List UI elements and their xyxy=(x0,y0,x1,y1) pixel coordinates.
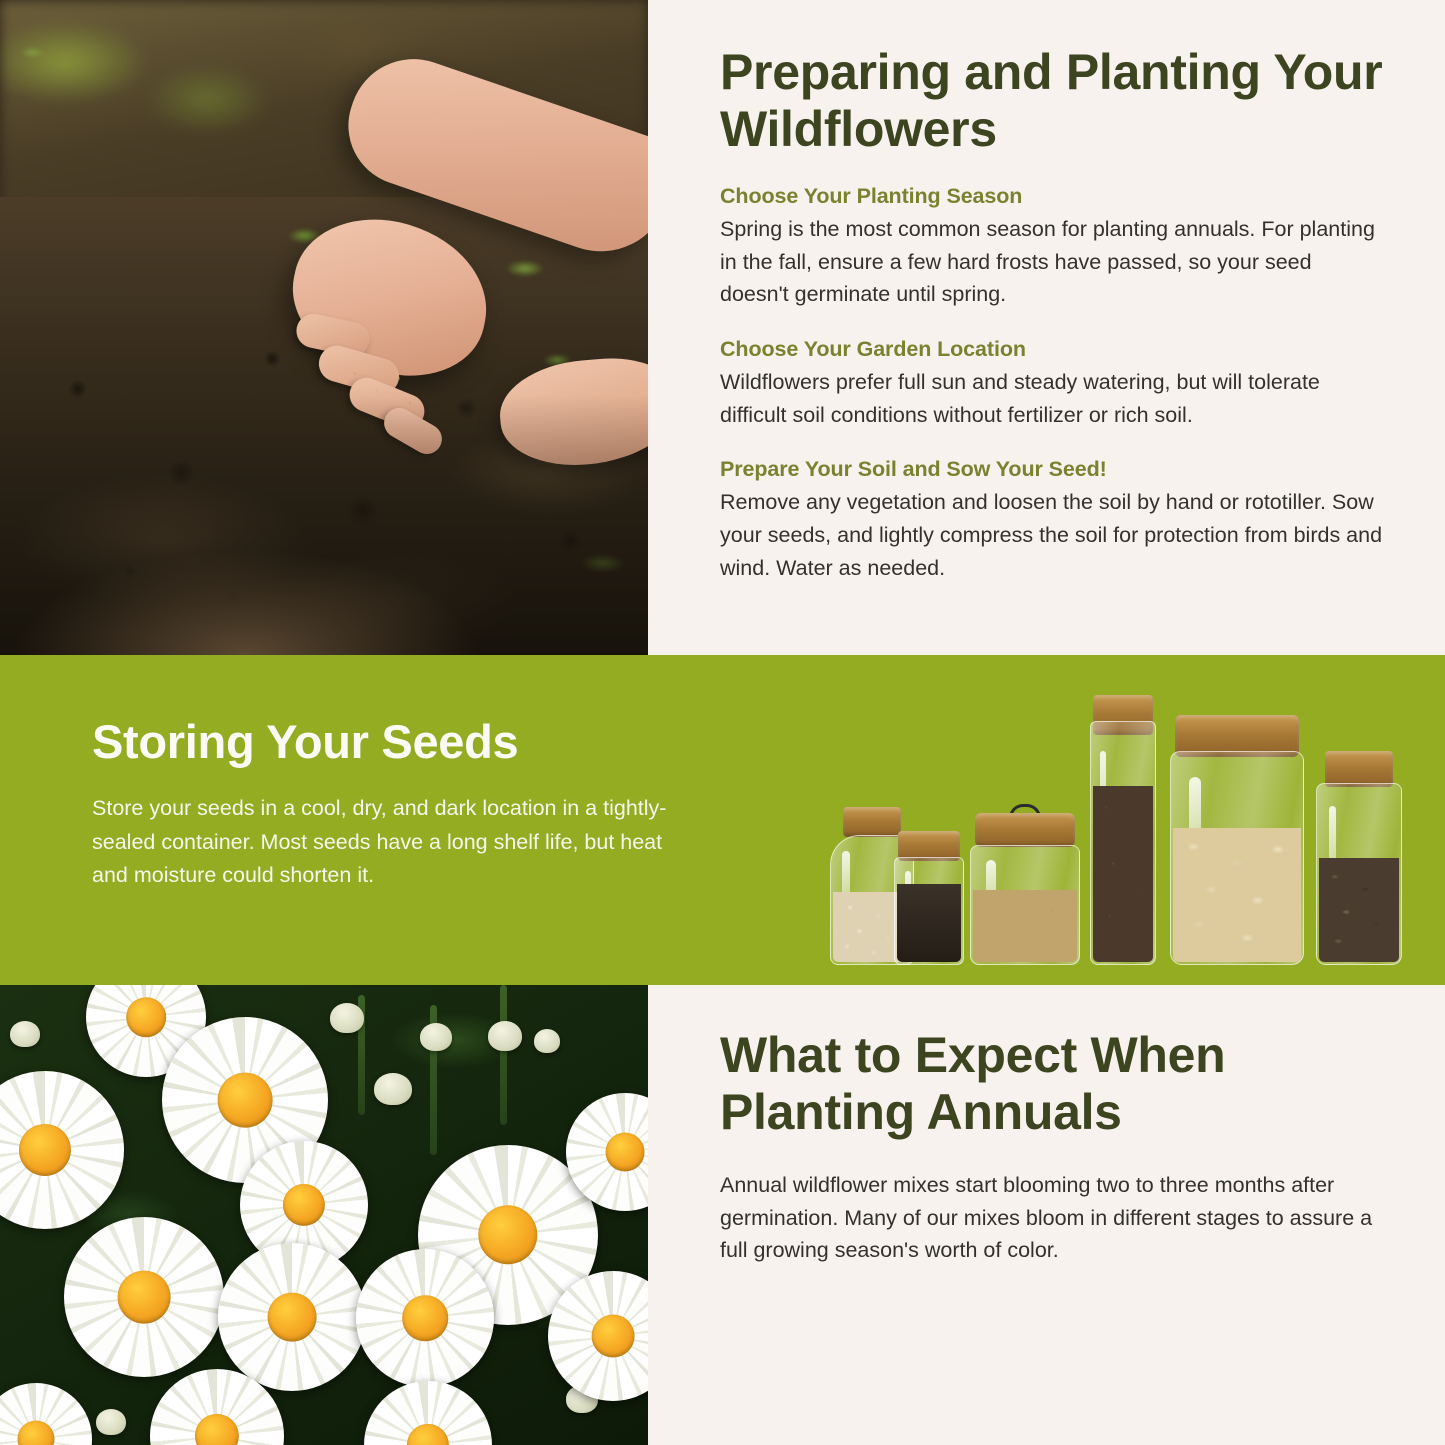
glass-body xyxy=(1316,783,1402,965)
seed-jars-photo xyxy=(822,675,1402,965)
seed-fill-dark xyxy=(897,884,961,962)
seed-fill-sunflower-seeds xyxy=(1319,858,1399,962)
seed-fill-pumpkin-seeds xyxy=(1173,828,1301,962)
cork-lid-icon xyxy=(1325,751,1393,787)
photo-daisy-flower xyxy=(218,1243,366,1391)
preparing-text-column: Preparing and Planting Your Wildflowers … xyxy=(648,0,1445,655)
planting-block: Prepare Your Soil and Sow Your Seed! Rem… xyxy=(720,457,1383,584)
photo-daisy-flower xyxy=(356,1249,494,1387)
expect-text-column: What to Expect When Planting Annuals Ann… xyxy=(648,985,1445,1445)
glass-body xyxy=(970,845,1080,965)
cork-lid-icon xyxy=(843,807,901,837)
glass-body xyxy=(894,857,964,965)
daisy-center xyxy=(19,1124,71,1176)
infographic-page: Preparing and Planting Your Wildflowers … xyxy=(0,0,1445,1445)
seed-jar xyxy=(1170,715,1304,965)
photo-daisy-bud xyxy=(534,1029,560,1053)
daisy-center xyxy=(606,1133,645,1172)
subheading-planting-season: Choose Your Planting Season xyxy=(720,184,1383,209)
seed-jar xyxy=(970,813,1080,965)
daisy-field-photo xyxy=(0,985,648,1445)
daisy-center xyxy=(218,1073,273,1128)
subheading-garden-location: Choose Your Garden Location xyxy=(720,337,1383,362)
storing-title: Storing Your Seeds xyxy=(92,717,690,766)
seed-fill-brown xyxy=(1093,786,1153,962)
soil-sowing-photo xyxy=(0,0,648,655)
planting-block: Choose Your Planting Season Spring is th… xyxy=(720,184,1383,311)
daisy-center xyxy=(126,997,166,1037)
photo-daisy-bud xyxy=(96,1409,126,1435)
photo-daisy-bud xyxy=(374,1073,412,1105)
body-planting-season: Spring is the most common season for pla… xyxy=(720,213,1383,311)
daisy-center xyxy=(402,1295,448,1341)
seed-fill-tan-grain xyxy=(973,890,1077,962)
expect-body: Annual wildflower mixes start blooming t… xyxy=(720,1169,1383,1267)
photo-daisy-flower xyxy=(64,1217,224,1377)
photo-daisy-bud xyxy=(488,1021,522,1051)
photo-daisy-bud xyxy=(10,1021,40,1047)
daisy-center xyxy=(268,1293,317,1342)
body-prepare-soil: Remove any vegetation and loosen the soi… xyxy=(720,486,1383,584)
body-garden-location: Wildflowers prefer full sun and steady w… xyxy=(720,366,1383,431)
photo-stem xyxy=(500,985,507,1125)
planting-block: Choose Your Garden Location Wildflowers … xyxy=(720,337,1383,431)
section-what-to-expect: What to Expect When Planting Annuals Ann… xyxy=(0,985,1445,1445)
page-title: Preparing and Planting Your Wildflowers xyxy=(720,44,1383,158)
expect-title: What to Expect When Planting Annuals xyxy=(720,1027,1383,1141)
cork-lid-icon xyxy=(975,813,1075,847)
section-preparing-planting: Preparing and Planting Your Wildflowers … xyxy=(0,0,1445,655)
photo-daisy-bud xyxy=(420,1023,452,1051)
seed-jar xyxy=(1090,695,1156,965)
seed-jar xyxy=(894,831,964,965)
photo-daisy-bud xyxy=(330,1003,364,1033)
daisy-center xyxy=(592,1315,635,1358)
subheading-prepare-soil: Prepare Your Soil and Sow Your Seed! xyxy=(720,457,1383,482)
storing-text-column: Storing Your Seeds Store your seeds in a… xyxy=(0,655,720,985)
glass-body xyxy=(1090,721,1156,965)
glass-body xyxy=(1170,751,1304,965)
photo-soil-mound xyxy=(0,395,648,655)
section-storing-seeds: Storing Your Seeds Store your seeds in a… xyxy=(0,655,1445,985)
daisy-center xyxy=(118,1271,171,1324)
storing-body: Store your seeds in a cool, dry, and dar… xyxy=(92,792,690,892)
seed-jar xyxy=(1316,751,1402,965)
